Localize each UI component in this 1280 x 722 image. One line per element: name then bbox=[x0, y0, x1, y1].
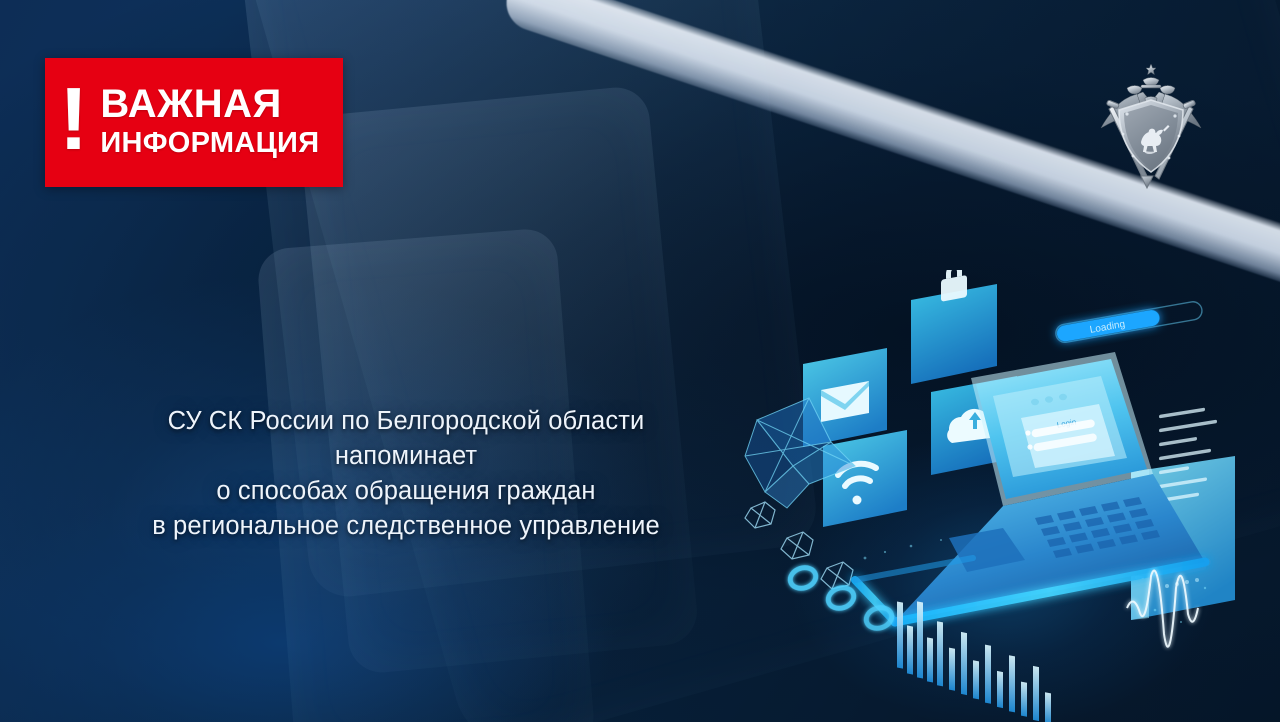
equalizer-bars bbox=[897, 601, 1051, 722]
lock-icon bbox=[941, 270, 967, 302]
exclamation-icon: ! bbox=[59, 83, 88, 155]
emblem-crowns bbox=[1127, 64, 1175, 94]
floating-card-wifi bbox=[823, 430, 907, 527]
floating-card-lock bbox=[911, 270, 997, 384]
isometric-laptop-illustration: Loading Login bbox=[735, 270, 1280, 722]
glow-ring-icon bbox=[826, 584, 857, 611]
investigative-committee-emblem bbox=[1093, 58, 1209, 190]
headline-line-1: СУ СК России по Белгородской области bbox=[56, 404, 756, 439]
badge-line-important: ВАЖНАЯ bbox=[100, 84, 319, 125]
gem-outline-icon bbox=[781, 532, 813, 559]
emblem-shield bbox=[1119, 100, 1183, 172]
loading-progress-bar: Loading bbox=[1054, 300, 1203, 343]
headline-line-3: о способах обращения граждан bbox=[56, 474, 756, 509]
important-information-badge: ! ВАЖНАЯ ИНФОРМАЦИЯ bbox=[45, 58, 343, 187]
headline-line-2: напоминает bbox=[56, 439, 756, 474]
poster-root: Loading Login bbox=[0, 0, 1280, 722]
glow-ring-icon bbox=[788, 564, 819, 591]
headline-line-4: в региональное следственное управление bbox=[56, 509, 756, 544]
gem-outline-icon bbox=[821, 562, 853, 589]
badge-text-block: ВАЖНАЯ ИНФОРМАЦИЯ bbox=[100, 84, 319, 161]
glow-ring-icon bbox=[864, 604, 895, 631]
badge-line-information: ИНФОРМАЦИЯ bbox=[100, 125, 319, 161]
headline-text: СУ СК России по Белгородской области нап… bbox=[56, 404, 756, 544]
